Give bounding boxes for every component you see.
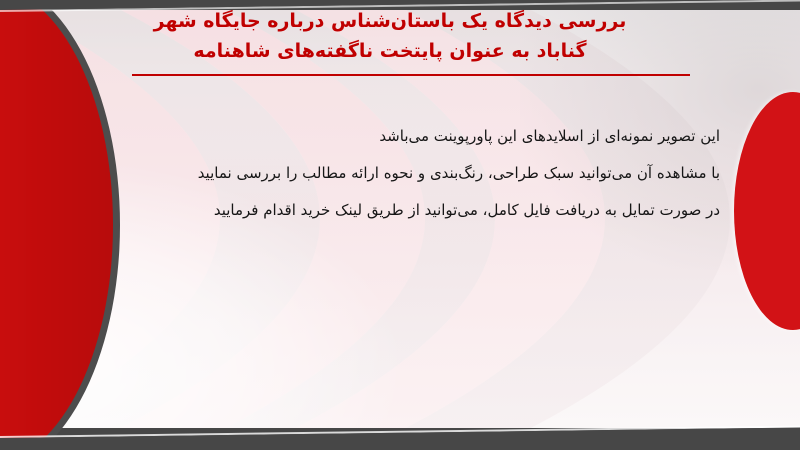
slide-text-content: بررسی دیدگاه یک باستان‌شناس درباره جایگا… [0,0,800,450]
slide-body: این تصویر نمونه‌ای از اسلایدهای این پاور… [80,118,720,229]
presentation-slide: بررسی دیدگاه یک باستان‌شناس درباره جایگا… [0,0,800,450]
body-line-3: در صورت تمایل به دریافت فایل کامل، می‌تو… [80,192,720,229]
body-line-1: این تصویر نمونه‌ای از اسلایدهای این پاور… [80,118,720,155]
title-underline [132,74,690,76]
title-line-2: گناباد به عنوان پایتخت ناگفته‌های شاهنام… [90,36,690,66]
body-line-2: با مشاهده آن می‌توانید سبک طراحی، رنگ‌بن… [80,155,720,192]
title-line-1: بررسی دیدگاه یک باستان‌شناس درباره جایگا… [90,6,690,36]
slide-title: بررسی دیدگاه یک باستان‌شناس درباره جایگا… [90,6,690,66]
